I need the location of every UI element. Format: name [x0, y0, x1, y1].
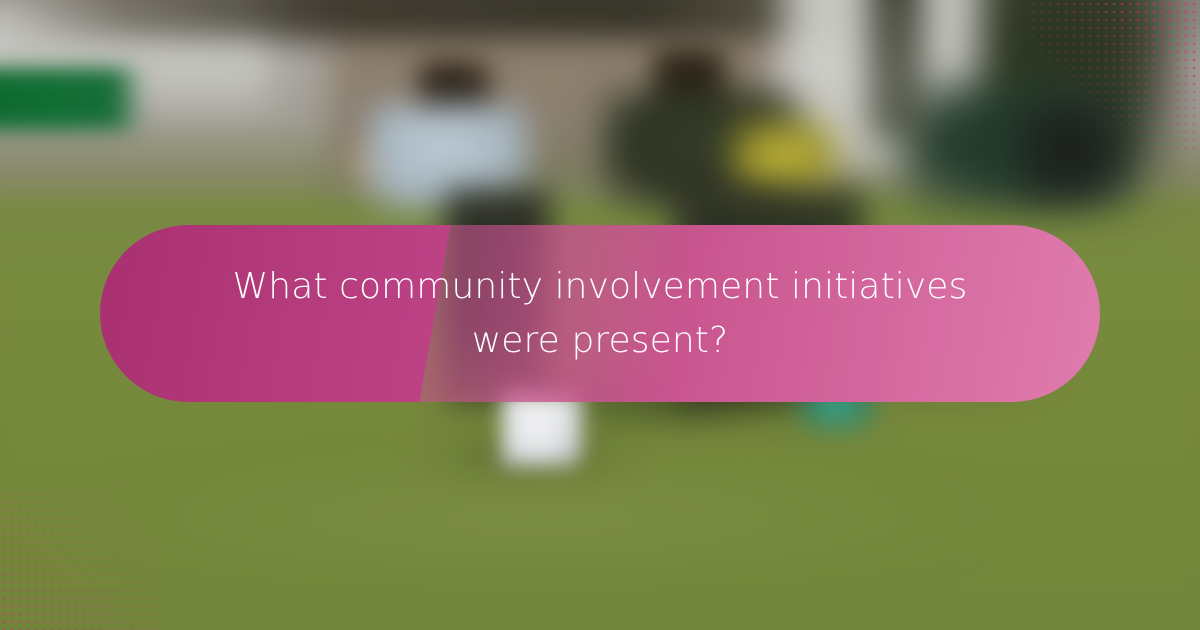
question-banner: What community involvement initiatives w… — [0, 0, 1200, 630]
question-pill: What community involvement initiatives w… — [100, 225, 1100, 402]
question-text: What community involvement initiatives w… — [205, 260, 995, 368]
